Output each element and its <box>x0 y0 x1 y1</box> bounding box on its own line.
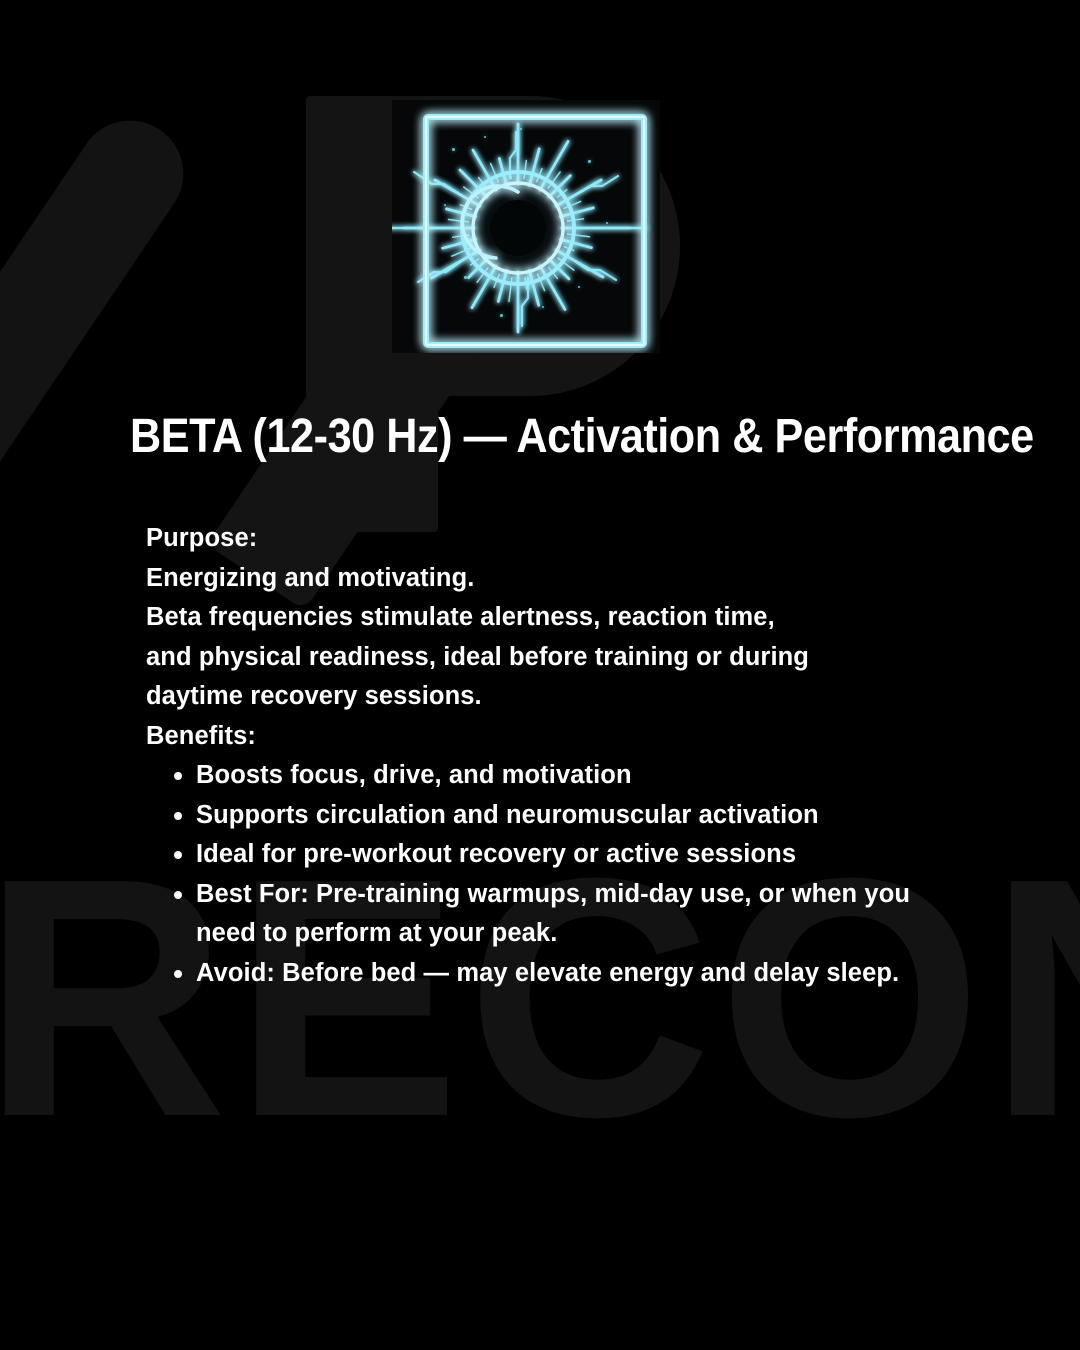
spark-speck <box>606 222 608 224</box>
spark-speck <box>452 148 455 151</box>
spark-speck <box>542 306 544 308</box>
bullet-dot-icon <box>174 812 182 820</box>
spark-speck <box>588 160 591 163</box>
purpose-label: Purpose: <box>146 519 976 559</box>
list-item-label: Avoid: Before bed — may elevate energy a… <box>196 959 899 987</box>
list-item: Ideal for pre-workout recovery or active… <box>146 835 976 875</box>
neon-burst-svg <box>392 100 660 353</box>
spark-speck <box>484 136 486 138</box>
purpose-line: daytime recovery sessions. <box>146 677 976 717</box>
list-item: Boosts focus, drive, and motivation <box>146 756 976 796</box>
list-item: Best For: Pre-training warmups, mid-day … <box>146 875 976 954</box>
list-item-label: Ideal for pre-workout recovery or active… <box>196 840 796 868</box>
purpose-line: Energizing and motivating. <box>146 559 976 599</box>
spark-speck <box>578 286 580 288</box>
purpose-block: Purpose: Energizing and motivating. Beta… <box>146 519 976 756</box>
list-item: Avoid: Before bed — may elevate energy a… <box>146 954 976 994</box>
bullet-dot-icon <box>174 772 182 780</box>
bullet-dot-icon <box>174 891 182 899</box>
poster-root: RECON <box>0 0 1080 1350</box>
list-item-label: Best For: Pre-training warmups, mid-day … <box>196 880 910 948</box>
list-item-label: Boosts focus, drive, and motivation <box>196 761 632 789</box>
content-body: Purpose: Energizing and motivating. Beta… <box>146 519 976 993</box>
bullet-dot-icon <box>174 970 182 978</box>
neon-burst-icon <box>392 100 660 353</box>
page-title: BETA (12-30 Hz) — Activation & Performan… <box>130 409 922 465</box>
purpose-line: Beta frequencies stimulate alertness, re… <box>146 598 976 638</box>
spark-speck <box>500 314 503 317</box>
benefits-label: Benefits: <box>146 717 976 757</box>
list-item: Supports circulation and neuromuscular a… <box>146 796 976 836</box>
spark-speck <box>520 128 522 130</box>
list-item-label: Supports circulation and neuromuscular a… <box>196 801 819 829</box>
bullet-dot-icon <box>174 851 182 859</box>
purpose-line: and physical readiness, ideal before tra… <box>146 638 976 678</box>
watermark-slash <box>0 100 204 574</box>
spark-speck <box>444 204 446 206</box>
benefits-list: Boosts focus, drive, and motivation Supp… <box>146 756 976 993</box>
spark-speck <box>464 276 467 279</box>
logo-image <box>392 100 660 353</box>
